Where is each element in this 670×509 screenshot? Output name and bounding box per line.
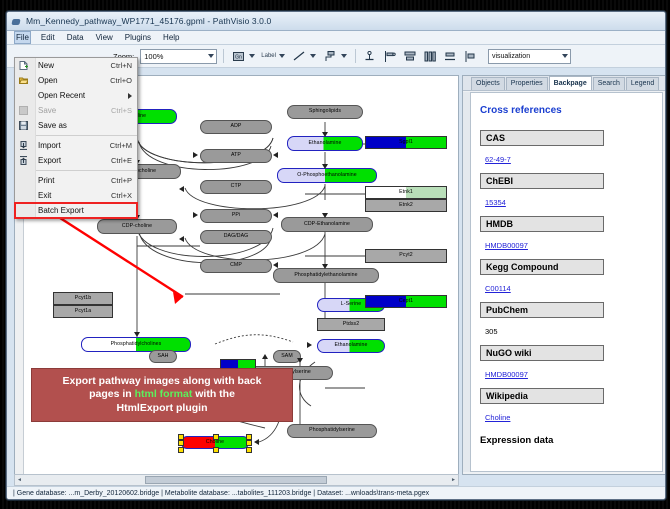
arrow-icon [322,264,328,269]
group-icon[interactable] [462,48,478,64]
resize-handle[interactable] [213,447,219,453]
menu-item-open-recent[interactable]: Open Recent [15,88,137,103]
toolbar-separator [355,49,356,63]
menu-item-save-as-label: Save as [38,121,67,130]
chevron-down-icon[interactable] [341,54,347,58]
visualization-select[interactable]: visualization [488,49,571,64]
callout-line1: Export pathway images along with back [63,375,262,387]
anchor-icon[interactable] [362,48,378,64]
tab-search[interactable]: Search [593,77,625,90]
metabolite-node[interactable]: Phosphatidylcholines [81,337,191,352]
metabolite-node[interactable]: Sphingolipids [287,105,363,119]
visualization-value: visualization [492,53,530,60]
arrow-icon [262,354,268,359]
gene-node[interactable]: Ptdss2 [317,318,385,331]
pathvisio-icon [11,16,22,27]
arrow-icon [322,164,328,169]
toolbar-separator [223,49,224,63]
menu-item-batch-export-label: Batch Export [38,206,84,215]
canvas-hscrollbar[interactable]: ◄ ► [14,474,459,486]
arrow-icon [322,132,328,137]
resize-handle[interactable] [178,440,184,446]
menu-item-print[interactable]: Print Ctrl+P [15,173,137,188]
menu-item-export[interactable]: Export Ctrl+E [15,153,137,168]
resize-handle[interactable] [178,434,184,440]
arrow-icon [179,186,184,192]
arrow-icon [134,332,140,337]
backpage-panel: Objects Properties Backpage Search Legen… [462,75,666,475]
metabolite-node[interactable]: Ethanolamine [287,136,363,151]
db-label-kegg: Kegg Compound [480,259,604,275]
menu-item-open[interactable]: Open Ctrl+O [15,73,137,88]
gene-node[interactable]: Pcyt2 [365,249,447,263]
gene-node[interactable]: Pcyt1b [53,292,113,305]
menu-data[interactable]: Data [65,32,86,43]
menu-item-open-recent-label: Open Recent [38,91,85,100]
file-menu-popup[interactable]: New Ctrl+N Open Ctrl+O Open Recent Save [14,57,138,219]
resize-handle[interactable] [213,434,219,440]
gene-node[interactable]: Pcyt1a [53,305,113,318]
chevron-down-icon[interactable] [310,54,316,58]
tab-backpage[interactable]: Backpage [549,76,592,90]
arrow-icon [273,152,278,158]
import-icon [19,141,28,150]
metabolite-node[interactable]: CDP-choline [97,219,177,234]
arrow-icon [254,439,259,445]
arrow-icon [273,262,278,268]
resize-handle[interactable] [246,447,252,453]
scroll-right-icon[interactable]: ► [451,477,456,483]
menu-item-import[interactable]: Import Ctrl+M [15,138,137,153]
menu-item-save-as[interactable]: Save as [15,118,137,133]
metabolite-node[interactable]: CMP [200,259,272,273]
screenshot-root: Mm_Kennedy_pathway_WP1771_45176.gpml - P… [0,0,670,509]
menu-item-new[interactable]: New Ctrl+N [15,58,137,73]
scroll-left-icon[interactable]: ◄ [17,477,22,483]
save-as-icon [19,121,28,130]
tab-properties[interactable]: Properties [506,77,548,90]
svg-text:Gn: Gn [235,54,242,60]
db-value-wikipedia[interactable]: Choline [485,413,510,422]
chevron-down-icon[interactable] [279,54,285,58]
resize-handle[interactable] [246,434,252,440]
gene-node[interactable]: Cept1 [365,295,447,308]
db-label-pubchem: PubChem [480,302,604,318]
stack-icon[interactable] [442,48,458,64]
gene-product-icon[interactable]: Gn [230,48,246,64]
menu-item-print-label: Print [38,176,54,185]
db-value-pubchem: 305 [485,327,498,336]
db-value-chebi[interactable]: 15354 [485,198,506,207]
arrow-icon [193,212,198,218]
backpage-content: Cross references CAS 62-49-7 ChEBI 15354… [470,92,663,472]
chevron-down-icon [562,54,568,58]
annotation-callout: Export pathway images along with back pa… [31,368,293,422]
menu-help[interactable]: Help [161,32,181,43]
menu-separator [36,135,137,136]
menu-item-open-label: Open [38,76,58,85]
selected-node-group[interactable]: Choline [178,434,252,451]
save-icon [19,106,28,115]
window-title: Mm_Kennedy_pathway_WP1771_45176.gpml - P… [26,16,271,26]
menu-item-save-label: Save [38,106,56,115]
arrow-icon [179,236,184,242]
callout-line3: HtmlExport plugin [117,402,208,414]
chevron-down-icon[interactable] [249,54,255,58]
arrow-icon [273,212,278,218]
export-icon [19,156,28,165]
callout-line2-pre: pages in [89,388,135,400]
label-button[interactable]: Label [261,53,276,59]
line-icon[interactable] [291,48,307,64]
menu-item-exit-label: Exit [38,191,51,200]
menu-plugins[interactable]: Plugins [123,32,153,43]
statusbar: | Gene database: ...m_Derby_20120602.bri… [7,486,666,500]
cross-references-heading: Cross references [480,105,653,116]
arrow-icon [307,342,312,348]
db-value-hmdb[interactable]: HMDB00097 [485,241,528,250]
align-left-icon[interactable] [382,48,398,64]
chevron-right-icon [128,93,132,99]
zoom-select[interactable]: 100% [140,49,217,64]
menu-item-exit[interactable]: Exit Ctrl+X [15,188,137,203]
menubar: File Edit Data View Plugins Help [7,31,665,45]
metabolite-node-phospha-low[interactable]: Phosphatidylserine [287,424,377,438]
menu-view[interactable]: View [94,32,115,43]
arrow-icon [193,152,198,158]
menu-item-print-shortcut: Ctrl+P [111,176,137,185]
window-titlebar: Mm_Kennedy_pathway_WP1771_45176.gpml - P… [7,12,665,31]
menu-item-save-shortcut: Ctrl+S [111,106,137,115]
pathvisio-window: Mm_Kennedy_pathway_WP1771_45176.gpml - P… [6,11,666,500]
menu-item-import-label: Import [38,141,61,150]
tab-objects[interactable]: Objects [471,77,505,90]
metabolite-node[interactable]: CTP [200,180,272,194]
metabolite-node[interactable]: Phosphatidylethanolamine [273,268,379,283]
menu-item-export-shortcut: Ctrl+E [111,156,137,165]
menu-file[interactable]: File [14,31,31,44]
db-value-cas[interactable]: 62-49-7 [485,155,511,164]
menu-item-new-label: New [38,61,54,70]
metabolite-node[interactable]: ADP [200,120,272,134]
db-label-cas: CAS [480,130,604,146]
zoom-value: 100% [144,52,163,61]
gene-node[interactable]: Etnk1 [365,186,447,199]
statusbar-text: | Gene database: ...m_Derby_20120602.bri… [13,490,429,497]
db-label-nugo: NuGO wiki [480,345,604,361]
resize-handle[interactable] [246,440,252,446]
db-label-chebi: ChEBI [480,173,604,189]
gene-node[interactable]: Etnk2 [365,199,447,212]
menu-item-export-label: Export [38,156,61,165]
annotation-text: Export pathway images along with back pa… [57,375,268,415]
callout-line2-post: with the [192,388,235,400]
scrollbar-thumb[interactable] [145,476,327,484]
menu-edit[interactable]: Edit [39,32,57,43]
metabolite-node[interactable]: ATP [200,149,272,163]
db-label-hmdb: HMDB [480,216,604,232]
menu-item-import-shortcut: Ctrl+M [110,141,137,150]
tab-legend[interactable]: Legend [626,77,659,90]
db-value-kegg[interactable]: C00114 [485,284,511,293]
gene-node[interactable]: Sgpl1 [365,136,447,149]
folder-open-icon [19,76,28,85]
distribute-icon[interactable] [422,48,438,64]
expression-data-heading: Expression data [480,435,653,446]
align-center-icon[interactable] [402,48,418,64]
new-file-icon [19,61,28,70]
db-label-wikipedia: Wikipedia [480,388,604,404]
chevron-down-icon [208,54,214,58]
interaction-icon[interactable] [322,48,338,64]
metabolite-node[interactable]: O-Phosphoethanolamine [277,168,377,183]
resize-handle[interactable] [178,447,184,453]
menu-item-open-shortcut: Ctrl+O [110,76,137,85]
menu-item-exit-shortcut: Ctrl+X [111,191,137,200]
arrow-icon [297,358,303,363]
metabolite-node[interactable]: Ethanolamine [317,339,385,353]
metabolite-node[interactable]: PPi [200,209,272,223]
db-value-nugo[interactable]: HMDB00097 [485,370,528,379]
metabolite-node[interactable]: SAH [149,350,177,363]
arrow-icon [322,213,328,218]
panel-tabs: Objects Properties Backpage Search Legen… [463,76,665,91]
metabolite-node[interactable]: DAG/DAG [200,230,272,244]
callout-highlight: html format [135,388,193,400]
metabolite-node[interactable]: CDP-Ethanolamine [281,217,373,232]
menu-item-save: Save Ctrl+S [15,103,137,118]
menu-separator [36,170,137,171]
menu-item-new-shortcut: Ctrl+N [111,61,137,70]
menu-item-batch-export[interactable]: Batch Export [15,203,137,218]
